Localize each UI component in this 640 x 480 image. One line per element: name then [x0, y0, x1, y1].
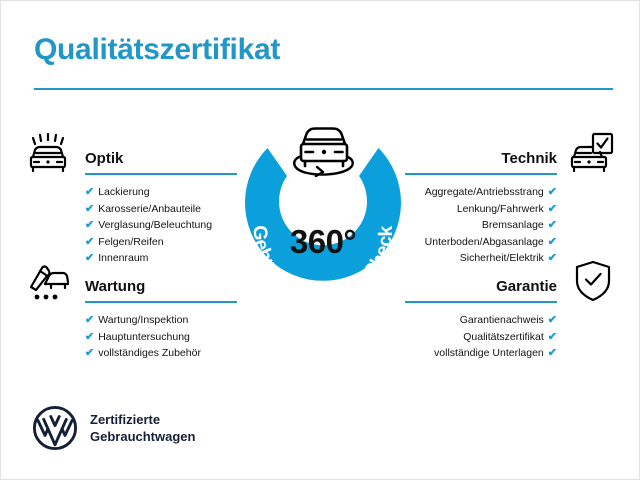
check-icon: ✔ — [85, 252, 94, 264]
list-item-label: Karosserie/Anbauteile — [98, 203, 201, 215]
section-garantie-list: Garantienachweis✔ Qualitätszertifikat✔ v… — [405, 312, 557, 362]
list-item-label: Unterboden/Abgasanlage — [425, 236, 544, 248]
list-item-label: vollständige Unterlagen — [434, 347, 544, 359]
check-icon: ✔ — [548, 331, 557, 343]
list-item: ✔Wartung/Inspektion — [85, 312, 237, 329]
check-icon: ✔ — [548, 186, 557, 198]
section-garantie-header: Garantie — [405, 269, 557, 303]
list-item: Bremsanlage✔ — [405, 217, 557, 234]
footer-line-1: Zertifizierte — [90, 411, 195, 428]
section-technik-list: Aggregate/Antriebsstrang✔ Lenkung/Fahrwe… — [405, 184, 557, 267]
quality-certificate-page: Qualitätszertifikat Optik ✔Lackierung ✔K… — [0, 0, 640, 480]
list-item-label: vollständiges Zubehör — [98, 347, 201, 359]
check-icon: ✔ — [548, 347, 557, 359]
list-item: ✔Lackierung — [85, 184, 237, 201]
list-item-label: Verglasung/Beleuchtung — [98, 219, 212, 231]
vw-logo-icon — [32, 405, 78, 451]
section-garantie: Garantie Garantienachweis✔ Qualitätszert… — [405, 269, 557, 362]
section-wartung-header: Wartung — [85, 269, 237, 303]
check-icon: ✔ — [548, 203, 557, 215]
check-icon: ✔ — [85, 219, 94, 231]
list-item: ✔Verglasung/Beleuchtung — [85, 217, 237, 234]
list-item-label: Bremsanlage — [482, 219, 544, 231]
check-icon: ✔ — [85, 314, 94, 326]
list-item: Unterboden/Abgasanlage✔ — [405, 234, 557, 251]
section-garantie-title: Garantie — [496, 278, 557, 295]
footer-text: Zertifizierte Gebrauchtwagen — [90, 411, 195, 445]
list-item: Garantienachweis✔ — [405, 312, 557, 329]
section-optik-list: ✔Lackierung ✔Karosserie/Anbauteile ✔Verg… — [85, 184, 237, 267]
check-icon: ✔ — [85, 203, 94, 215]
list-item: Qualitätszertifikat✔ — [405, 329, 557, 346]
list-item: ✔Innenraum — [85, 250, 237, 267]
list-item-label: Felgen/Reifen — [98, 236, 163, 248]
section-optik: Optik ✔Lackierung ✔Karosserie/Anbauteile… — [85, 141, 237, 267]
list-item-label: Lenkung/Fahrwerk — [457, 203, 544, 215]
car-rotation-icon — [285, 121, 363, 183]
list-item-label: Lackierung — [98, 186, 149, 198]
section-optik-header: Optik — [85, 141, 237, 175]
car-checkbox-icon — [567, 131, 615, 178]
footer-line-2: Gebrauchtwagen — [90, 428, 195, 445]
list-item-label: Garantienachweis — [460, 314, 544, 326]
section-wartung-divider — [85, 301, 237, 303]
list-item-label: Hauptuntersuchung — [98, 331, 190, 343]
section-technik-title: Technik — [501, 150, 557, 167]
list-item: Sicherheit/Elektrik✔ — [405, 250, 557, 267]
section-optik-title: Optik — [85, 150, 123, 167]
list-item-label: Aggregate/Antriebsstrang — [425, 186, 544, 198]
list-item-label: Sicherheit/Elektrik — [460, 252, 544, 264]
car-shine-icon — [25, 131, 71, 178]
section-technik: Technik Aggregate/Antriebsstrang✔ Lenkun… — [405, 141, 557, 267]
check-icon: ✔ — [85, 236, 94, 248]
check-icon: ✔ — [85, 331, 94, 343]
list-item: ✔Felgen/Reifen — [85, 234, 237, 251]
section-wartung: Wartung ✔Wartung/Inspektion ✔Hauptunters… — [85, 269, 237, 362]
badge-center-label: 360° — [223, 223, 423, 261]
check-icon: ✔ — [548, 252, 557, 264]
page-title: Qualitätszertifikat — [34, 33, 280, 67]
check-icon: ✔ — [85, 186, 94, 198]
section-garantie-divider — [405, 301, 557, 303]
footer-brand: Zertifizierte Gebrauchtwagen — [32, 405, 195, 451]
section-technik-header: Technik — [405, 141, 557, 175]
list-item: Aggregate/Antriebsstrang✔ — [405, 184, 557, 201]
list-item: vollständige Unterlagen✔ — [405, 345, 557, 362]
title-divider — [34, 88, 613, 90]
check-icon: ✔ — [548, 236, 557, 248]
list-item: ✔Karosserie/Anbauteile — [85, 201, 237, 218]
section-wartung-title: Wartung — [85, 278, 145, 295]
check-icon: ✔ — [548, 219, 557, 231]
360-check-badge: Gebrauchtwagen-Check 360° — [223, 119, 423, 319]
check-icon: ✔ — [85, 347, 94, 359]
check-icon: ✔ — [548, 314, 557, 326]
list-item-label: Innenraum — [98, 252, 148, 264]
list-item: ✔vollständiges Zubehör — [85, 345, 237, 362]
section-wartung-list: ✔Wartung/Inspektion ✔Hauptuntersuchung ✔… — [85, 312, 237, 362]
shield-check-icon — [573, 259, 613, 308]
list-item: ✔Hauptuntersuchung — [85, 329, 237, 346]
section-technik-divider — [405, 173, 557, 175]
service-pen-car-icon — [25, 262, 71, 307]
list-item-label: Wartung/Inspektion — [98, 314, 188, 326]
section-optik-divider — [85, 173, 237, 175]
list-item-label: Qualitätszertifikat — [463, 331, 544, 343]
list-item: Lenkung/Fahrwerk✔ — [405, 201, 557, 218]
